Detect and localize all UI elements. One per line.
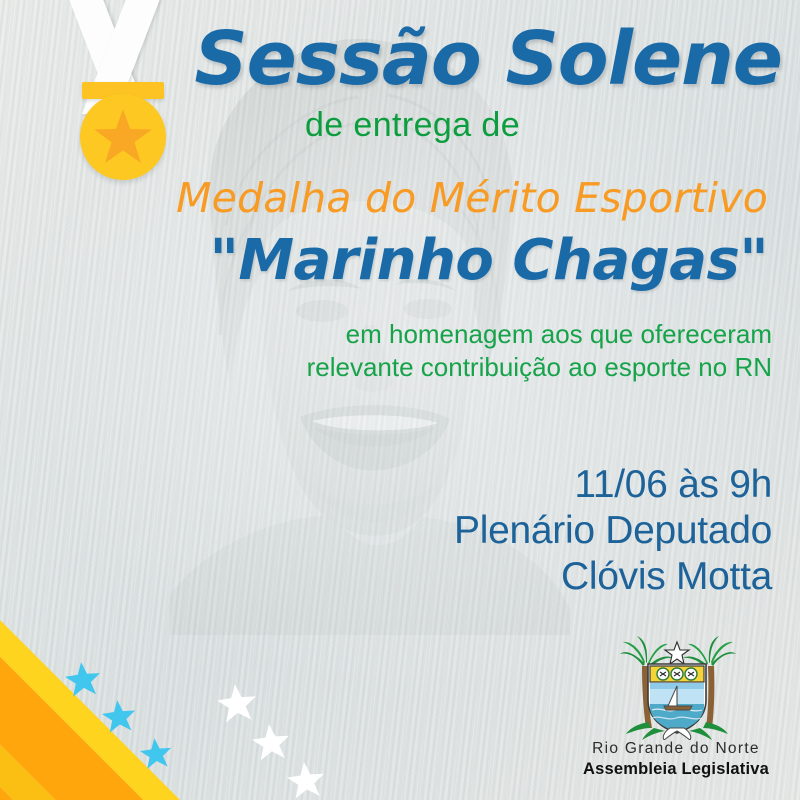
event-details: 11/06 às 9h Plenário Deputado Clóvis Mot… (0, 462, 772, 600)
homage-line-2: relevante contribuição ao esporte no RN (0, 351, 772, 384)
star-icon (665, 642, 689, 664)
page-title: Sessão Solene (0, 16, 782, 102)
honoree-name-heading: "Marinho Chagas" (0, 228, 768, 293)
coat-of-arms-svg (618, 636, 736, 740)
event-venue-line-2: Clóvis Motta (0, 554, 772, 600)
subtitle-delivery: de entrega de (0, 106, 520, 145)
logo-institution-label: Assembleia Legislativa (570, 760, 782, 779)
poster-canvas: Sessão Solene de entrega de Medalha do M… (0, 0, 800, 800)
homage-text: em homenagem aos que ofereceram relevant… (0, 318, 772, 384)
medal-name-heading: Medalha do Mérito Esportivo (0, 174, 768, 222)
event-venue-line-1: Plenário Deputado (0, 508, 772, 554)
event-datetime: 11/06 às 9h (0, 462, 772, 508)
logo-state-label: Rio Grande do Norte (570, 740, 782, 758)
homage-line-1: em homenagem aos que ofereceram (0, 318, 772, 351)
institution-logo: Rio Grande do Norte Assembleia Legislati… (570, 636, 782, 788)
coat-of-arms-icon (618, 636, 736, 740)
